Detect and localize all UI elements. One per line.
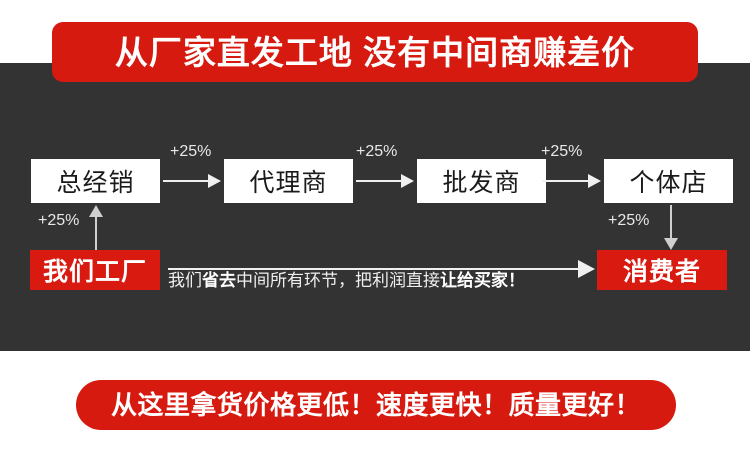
chain-node-label: 代理商 bbox=[249, 163, 327, 199]
arrow-right-icon bbox=[356, 174, 414, 188]
arrow-head bbox=[401, 174, 414, 188]
markup-label-shop-to-consumer: +25% bbox=[608, 213, 649, 229]
arrow-right-icon bbox=[542, 174, 601, 188]
chain-node-label: 批发商 bbox=[442, 163, 520, 199]
markup-label-1: +25% bbox=[170, 144, 211, 160]
chain-node-agent: 代理商 bbox=[224, 159, 353, 203]
arrow-up-icon bbox=[89, 205, 103, 250]
direct-supply-caption: 我们省去中间所有环节，把利润直接让给买家！ bbox=[168, 268, 598, 294]
arrow-head bbox=[664, 238, 678, 250]
top-headline-banner: 从厂家直发工地 没有中间商赚差价 bbox=[52, 22, 698, 82]
caption-part-2: 中间所有环节，把利润直接 bbox=[236, 271, 440, 290]
markup-label-3: +25% bbox=[541, 144, 582, 160]
arrow-shaft bbox=[356, 180, 402, 182]
arrow-head bbox=[588, 174, 601, 188]
chain-node-general-distributor: 总经销 bbox=[31, 159, 160, 203]
arrow-head bbox=[208, 174, 221, 188]
chain-node-label: 总经销 bbox=[56, 163, 134, 199]
arrow-head bbox=[89, 205, 103, 217]
node-our-factory: 我们工厂 bbox=[30, 250, 160, 290]
arrow-shaft bbox=[163, 180, 209, 182]
markup-label-2: +25% bbox=[356, 144, 397, 160]
node-our-factory-label: 我们工厂 bbox=[43, 252, 147, 288]
caption-part-1: 我们 bbox=[168, 271, 202, 290]
dark-background-band bbox=[0, 63, 750, 351]
arrow-shaft bbox=[542, 180, 589, 182]
bottom-cta-banner: 从这里拿货价格更低！速度更快！质量更好！ bbox=[76, 380, 676, 430]
bottom-cta-text: 从这里拿货价格更低！速度更快！质量更好！ bbox=[111, 392, 641, 418]
chain-node-label: 个体店 bbox=[629, 163, 707, 199]
caption-emphasis-1: 省去 bbox=[202, 271, 236, 290]
chain-node-retail-shop: 个体店 bbox=[604, 159, 733, 203]
markup-label-factory-to-distributor: +25% bbox=[38, 213, 79, 229]
node-consumer-label: 消费者 bbox=[623, 252, 701, 288]
promo-graphic: 从厂家直发工地 没有中间商赚差价 总经销 代理商 批发商 个体店 +25% +2… bbox=[0, 0, 750, 469]
node-consumer: 消费者 bbox=[597, 250, 727, 290]
arrow-right-icon bbox=[163, 174, 221, 188]
chain-node-wholesaler: 批发商 bbox=[417, 159, 546, 203]
arrow-down-icon bbox=[664, 205, 678, 250]
top-headline-text: 从厂家直发工地 没有中间商赚差价 bbox=[115, 36, 635, 69]
arrow-shaft bbox=[670, 205, 672, 239]
caption-emphasis-2: 让给买家！ bbox=[440, 271, 525, 290]
arrow-shaft bbox=[95, 216, 97, 250]
